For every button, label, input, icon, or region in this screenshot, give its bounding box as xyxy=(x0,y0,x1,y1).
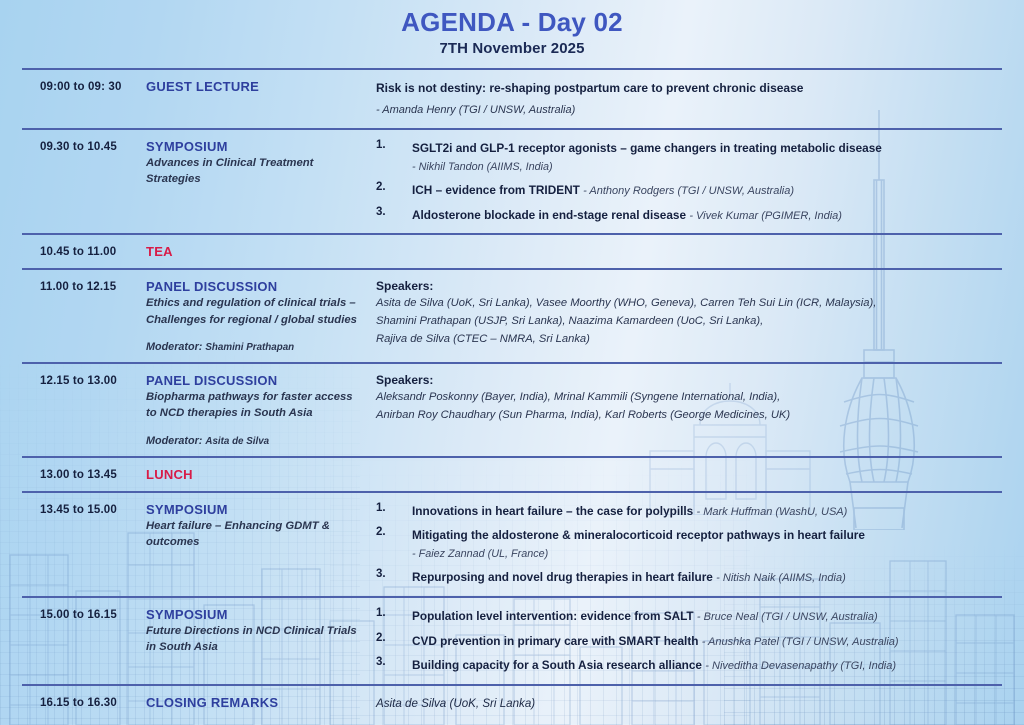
session-item-title: Mitigating the aldosterone & mineralocor… xyxy=(412,528,865,542)
session-type-label: SYMPOSIUM xyxy=(146,139,366,154)
session-type-cell: LUNCH xyxy=(146,467,376,482)
session-item: 2.CVD prevention in primary care with SM… xyxy=(376,632,992,651)
session-item-number: 1. xyxy=(376,139,412,175)
session-time: 09.30 to 10.45 xyxy=(22,139,146,153)
agenda-row: 10.45 to 11.00TEA xyxy=(22,233,1002,268)
speakers-line: Anirban Roy Chaudhary (Sun Pharma, India… xyxy=(376,407,992,425)
session-time: 15.00 to 16.15 xyxy=(22,607,146,621)
session-item-body: Building capacity for a South Asia resea… xyxy=(412,656,992,675)
session-time: 13.45 to 15.00 xyxy=(22,502,146,516)
session-item-number: 2. xyxy=(376,526,412,562)
agenda-row: 16.15 to 16.30CLOSING REMARKSAsita de Si… xyxy=(22,684,1002,725)
speakers-line: Rajiva de Silva (CTEC – NMRA, Sri Lanka) xyxy=(376,331,992,349)
session-item-speaker: - Nitish Naik (AIIMS, India) xyxy=(716,572,846,584)
agenda-header: AGENDA - Day 02 7TH November 2025 xyxy=(0,0,1024,57)
session-type-cell: PANEL DISCUSSIONBiopharma pathways for f… xyxy=(146,373,376,447)
session-type-cell: SYMPOSIUMHeart failure – Enhancing GDMT … xyxy=(146,502,376,551)
session-item: 3.Building capacity for a South Asia res… xyxy=(376,656,992,675)
agenda-row: 15.00 to 16.15SYMPOSIUMFuture Directions… xyxy=(22,596,1002,684)
agenda-row: 09.30 to 10.45SYMPOSIUMAdvances in Clini… xyxy=(22,128,1002,233)
session-item-title: Population level intervention: evidence … xyxy=(412,609,878,623)
session-item-number: 1. xyxy=(376,502,412,521)
session-type-cell: TEA xyxy=(146,244,376,259)
session-item-body: Aldosterone blockade in end-stage renal … xyxy=(412,206,992,225)
session-subtitle: Biopharma pathways for faster access to … xyxy=(146,389,366,422)
session-item-speaker: - Bruce Neal (TGI / UNSW, Australia) xyxy=(697,611,878,623)
speakers-line: Aleksandr Poskonny (Bayer, India), Mrina… xyxy=(376,389,992,407)
session-item: 2.Mitigating the aldosterone & mineraloc… xyxy=(376,526,992,562)
session-item-speaker: - Faiez Zannad (UL, France) xyxy=(412,547,992,562)
session-lead-speaker: - Amanda Henry (TGI / UNSW, Australia) xyxy=(376,102,992,119)
session-type-label: TEA xyxy=(146,244,366,259)
session-item-speaker: - Mark Huffman (WashU, USA) xyxy=(697,506,848,518)
session-content-cell: Speakers:Asita de Silva (UoK, Sri Lanka)… xyxy=(376,279,1002,349)
session-item-list: 1.SGLT2i and GLP-1 receptor agonists – g… xyxy=(376,139,992,224)
session-item-list: 1.Innovations in heart failure – the cas… xyxy=(376,502,992,587)
agenda-row: 13.00 to 13.45LUNCH xyxy=(22,456,1002,491)
session-item: 2.ICH – evidence from TRIDENT - Anthony … xyxy=(376,181,992,200)
session-item-speaker: - Vivek Kumar (PGIMER, India) xyxy=(689,210,842,222)
agenda-row: 12.15 to 13.00PANEL DISCUSSIONBiopharma … xyxy=(22,362,1002,456)
speakers-line: Asita de Silva (UoK, Sri Lanka), Vasee M… xyxy=(376,295,992,313)
session-item-number: 2. xyxy=(376,632,412,651)
session-item: 1.Population level intervention: evidenc… xyxy=(376,607,992,626)
session-subtitle: Advances in Clinical Treatment Strategie… xyxy=(146,155,366,188)
agenda-row: 13.45 to 15.00SYMPOSIUMHeart failure – E… xyxy=(22,491,1002,596)
session-item-body: ICH – evidence from TRIDENT - Anthony Ro… xyxy=(412,181,992,200)
session-item-body: CVD prevention in primary care with SMAR… xyxy=(412,632,992,651)
session-item-title: Innovations in heart failure – the case … xyxy=(412,504,847,518)
session-item-title: Aldosterone blockade in end-stage renal … xyxy=(412,208,842,222)
speakers-list: Asita de Silva (UoK, Sri Lanka), Vasee M… xyxy=(376,295,992,349)
session-type-cell: GUEST LECTURE xyxy=(146,79,376,94)
session-time: 09:00 to 09: 30 xyxy=(22,79,146,93)
session-item: 1.Innovations in heart failure – the cas… xyxy=(376,502,992,521)
session-item-title: SGLT2i and GLP-1 receptor agonists – gam… xyxy=(412,141,882,155)
session-type-label: PANEL DISCUSSION xyxy=(146,279,366,294)
session-content-cell: Asita de Silva (UoK, Sri Lanka)Anushka P… xyxy=(376,695,1002,725)
session-item-title: Building capacity for a South Asia resea… xyxy=(412,658,896,672)
session-item: 1.SGLT2i and GLP-1 receptor agonists – g… xyxy=(376,139,992,175)
session-type-label: SYMPOSIUM xyxy=(146,502,366,517)
session-item-title: Repurposing and novel drug therapies in … xyxy=(412,570,846,584)
session-item-body: Population level intervention: evidence … xyxy=(412,607,992,626)
session-lead-title: Risk is not destiny: re-shaping postpart… xyxy=(376,79,992,97)
session-item-speaker: - Anthony Rodgers (TGI / UNSW, Australia… xyxy=(583,185,794,197)
session-item-number: 3. xyxy=(376,206,412,225)
session-type-label: PANEL DISCUSSION xyxy=(146,373,366,388)
session-type-label: GUEST LECTURE xyxy=(146,79,366,94)
session-time: 16.15 to 16.30 xyxy=(22,695,146,709)
session-item-number: 2. xyxy=(376,181,412,200)
session-item-speaker: - Anushka Patel (TGI / UNSW, Australia) xyxy=(702,636,899,648)
speakers-heading: Speakers: xyxy=(376,373,992,387)
session-type-cell: SYMPOSIUMFuture Directions in NCD Clinic… xyxy=(146,607,376,656)
session-item-body: Mitigating the aldosterone & mineralocor… xyxy=(412,526,992,562)
session-moderator: Moderator: Asita de Silva xyxy=(146,435,366,447)
session-time: 10.45 to 11.00 xyxy=(22,244,146,258)
session-type-cell: CLOSING REMARKS xyxy=(146,695,376,710)
session-type-label: LUNCH xyxy=(146,467,366,482)
session-time: 12.15 to 13.00 xyxy=(22,373,146,387)
session-item-body: Repurposing and novel drug therapies in … xyxy=(412,568,992,587)
agenda-row: 09:00 to 09: 30GUEST LECTURERisk is not … xyxy=(22,68,1002,128)
session-item: 3.Aldosterone blockade in end-stage rena… xyxy=(376,206,992,225)
speakers-list: Aleksandr Poskonny (Bayer, India), Mrina… xyxy=(376,389,992,425)
session-item: 3.Repurposing and novel drug therapies i… xyxy=(376,568,992,587)
moderator-name: Asita de Silva xyxy=(205,436,269,447)
session-content-cell: Risk is not destiny: re-shaping postpart… xyxy=(376,79,1002,119)
page-subtitle-date: 7TH November 2025 xyxy=(0,40,1024,57)
session-content-cell: 1.Innovations in heart failure – the cas… xyxy=(376,502,1002,587)
session-time: 13.00 to 13.45 xyxy=(22,467,146,481)
session-subtitle: Heart failure – Enhancing GDMT & outcome… xyxy=(146,518,366,551)
session-item-number: 3. xyxy=(376,568,412,587)
agenda-row: 11.00 to 12.15PANEL DISCUSSIONEthics and… xyxy=(22,268,1002,362)
session-type-label: SYMPOSIUM xyxy=(146,607,366,622)
session-time: 11.00 to 12.15 xyxy=(22,279,146,293)
session-type-label: CLOSING REMARKS xyxy=(146,695,366,710)
session-type-cell: PANEL DISCUSSIONEthics and regulation of… xyxy=(146,279,376,353)
session-item-list: 1.Population level intervention: evidenc… xyxy=(376,607,992,675)
session-item-number: 3. xyxy=(376,656,412,675)
speakers-heading: Speakers: xyxy=(376,279,992,293)
session-type-cell: SYMPOSIUMAdvances in Clinical Treatment … xyxy=(146,139,376,188)
session-item-speaker: - Nikhil Tandon (AIIMS, India) xyxy=(412,160,992,175)
session-item-title: CVD prevention in primary care with SMAR… xyxy=(412,634,899,648)
page-title: AGENDA - Day 02 xyxy=(0,8,1024,38)
agenda-table: 09:00 to 09: 30GUEST LECTURERisk is not … xyxy=(0,68,1024,725)
session-subtitle: Future Directions in NCD Clinical Trials… xyxy=(146,623,366,656)
session-moderator: Moderator: Shamini Prathapan xyxy=(146,341,366,353)
closing-remarks-speaker: Asita de Silva (UoK, Sri Lanka) xyxy=(376,695,992,712)
session-item-speaker: - Niveditha Devasenapathy (TGI, India) xyxy=(705,660,896,672)
session-item-title: ICH – evidence from TRIDENT - Anthony Ro… xyxy=(412,183,794,197)
session-content-cell: 1.Population level intervention: evidenc… xyxy=(376,607,1002,675)
session-item-body: Innovations in heart failure – the case … xyxy=(412,502,992,521)
session-content-cell: Speakers:Aleksandr Poskonny (Bayer, Indi… xyxy=(376,373,1002,425)
moderator-name: Shamini Prathapan xyxy=(205,342,294,353)
session-item-body: SGLT2i and GLP-1 receptor agonists – gam… xyxy=(412,139,992,175)
speakers-line: Shamini Prathapan (USJP, Sri Lanka), Naa… xyxy=(376,313,992,331)
session-item-number: 1. xyxy=(376,607,412,626)
session-subtitle: Ethics and regulation of clinical trials… xyxy=(146,295,366,328)
session-content-cell: 1.SGLT2i and GLP-1 receptor agonists – g… xyxy=(376,139,1002,224)
